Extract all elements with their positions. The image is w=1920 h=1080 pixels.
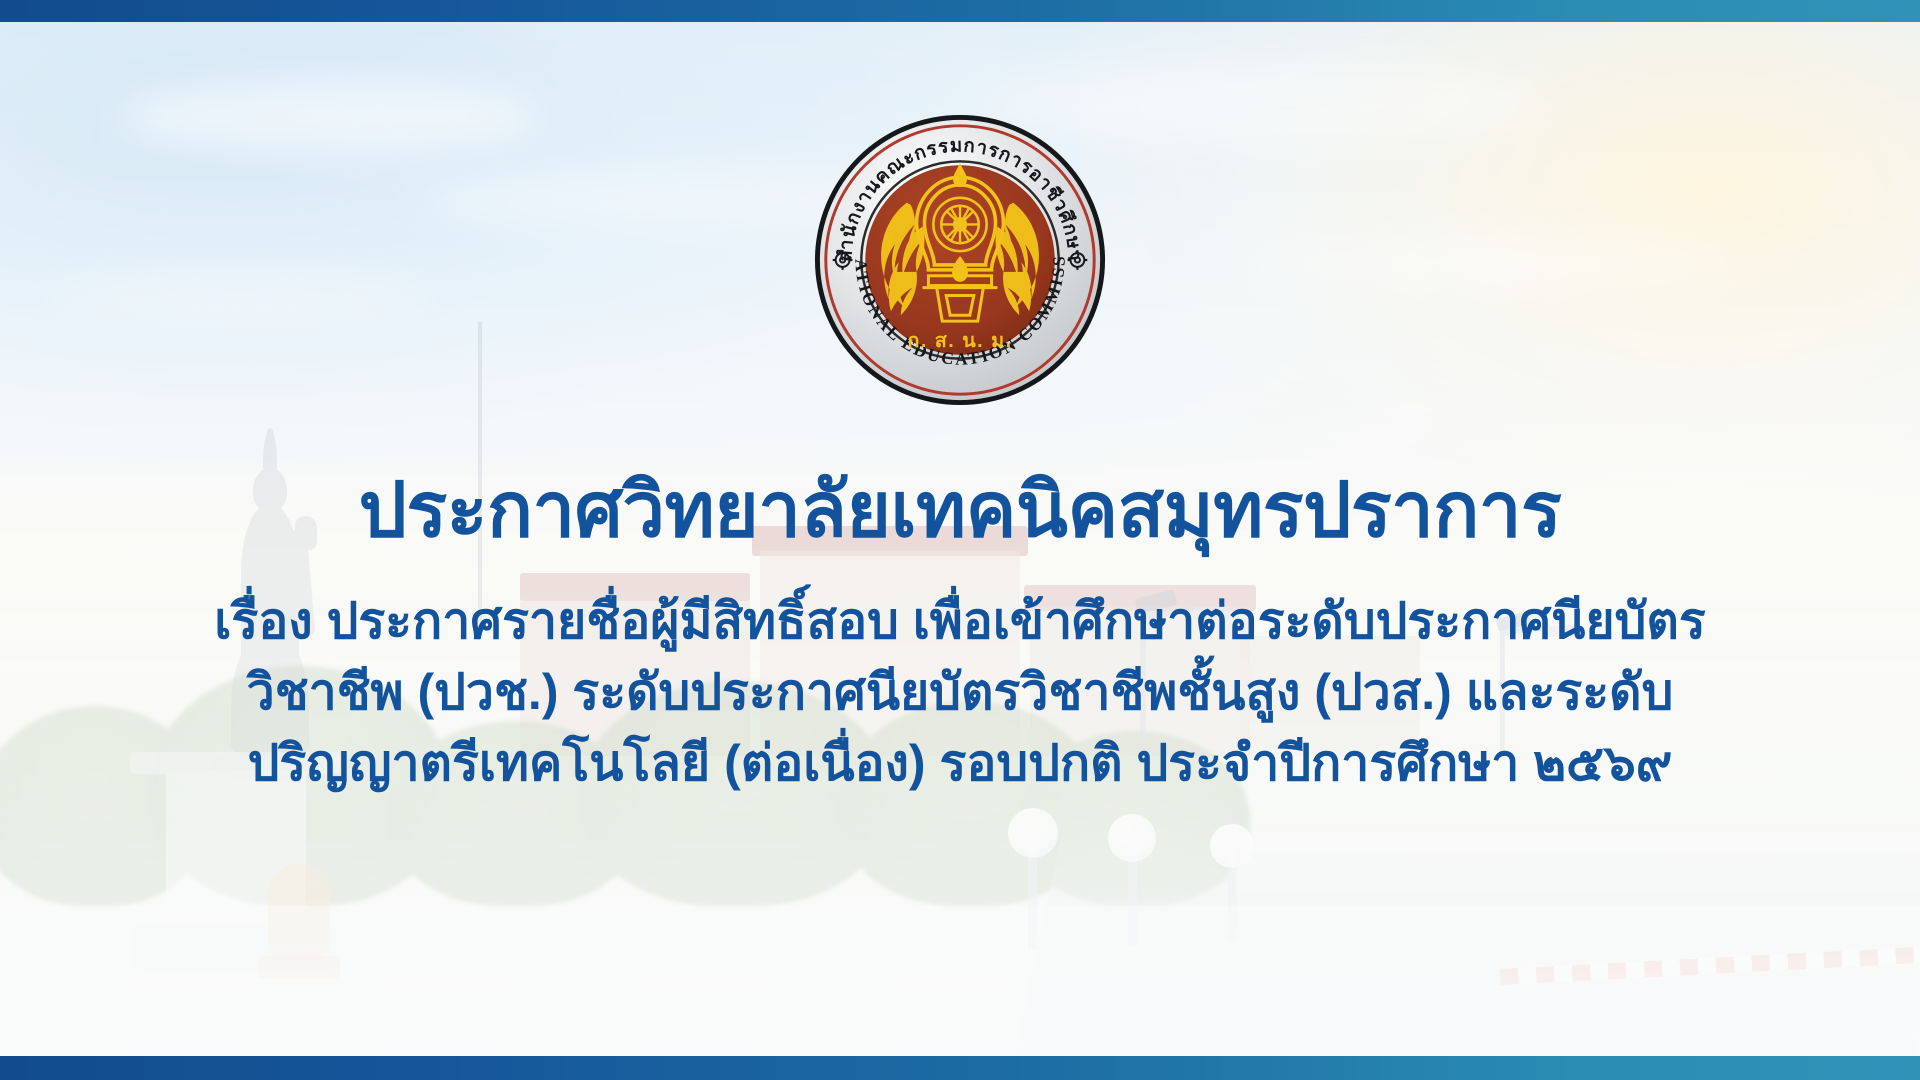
announcement-banner: สำนักงานคณะกรรมการการอาชีวศึกษา VOCATION… — [0, 0, 1920, 1080]
announcement-text-block: ประกาศวิทยาลัยเทคนิคสมุทรปราการ เรื่อง ป… — [0, 470, 1920, 799]
page-title: ประกาศวิทยาลัยเทคนิคสมุทรปราการ — [42, 470, 1878, 552]
seal-abbreviation-text: ก. ส. น. ม. — [907, 330, 1012, 352]
announcement-subject: เรื่อง ประกาศรายชื่อผู้มีสิทธิ์สอบ เพื่อ… — [42, 586, 1878, 799]
bottom-accent-bar — [0, 1056, 1920, 1080]
ovec-seal-logo: สำนักงานคณะกรรมการการอาชีวศึกษา VOCATION… — [812, 112, 1108, 408]
subject-line-2: วิชาชีพ (ปวช.) ระดับประกาศนียบัตรวิชาชีพ… — [42, 657, 1878, 728]
top-accent-bar — [0, 0, 1920, 22]
subject-line-1: เรื่อง ประกาศรายชื่อผู้มีสิทธิ์สอบ เพื่อ… — [42, 586, 1878, 657]
subject-line-3: ปริญญาตรีเทคโนโลยี (ต่อเนื่อง) รอบปกติ ป… — [42, 728, 1878, 799]
